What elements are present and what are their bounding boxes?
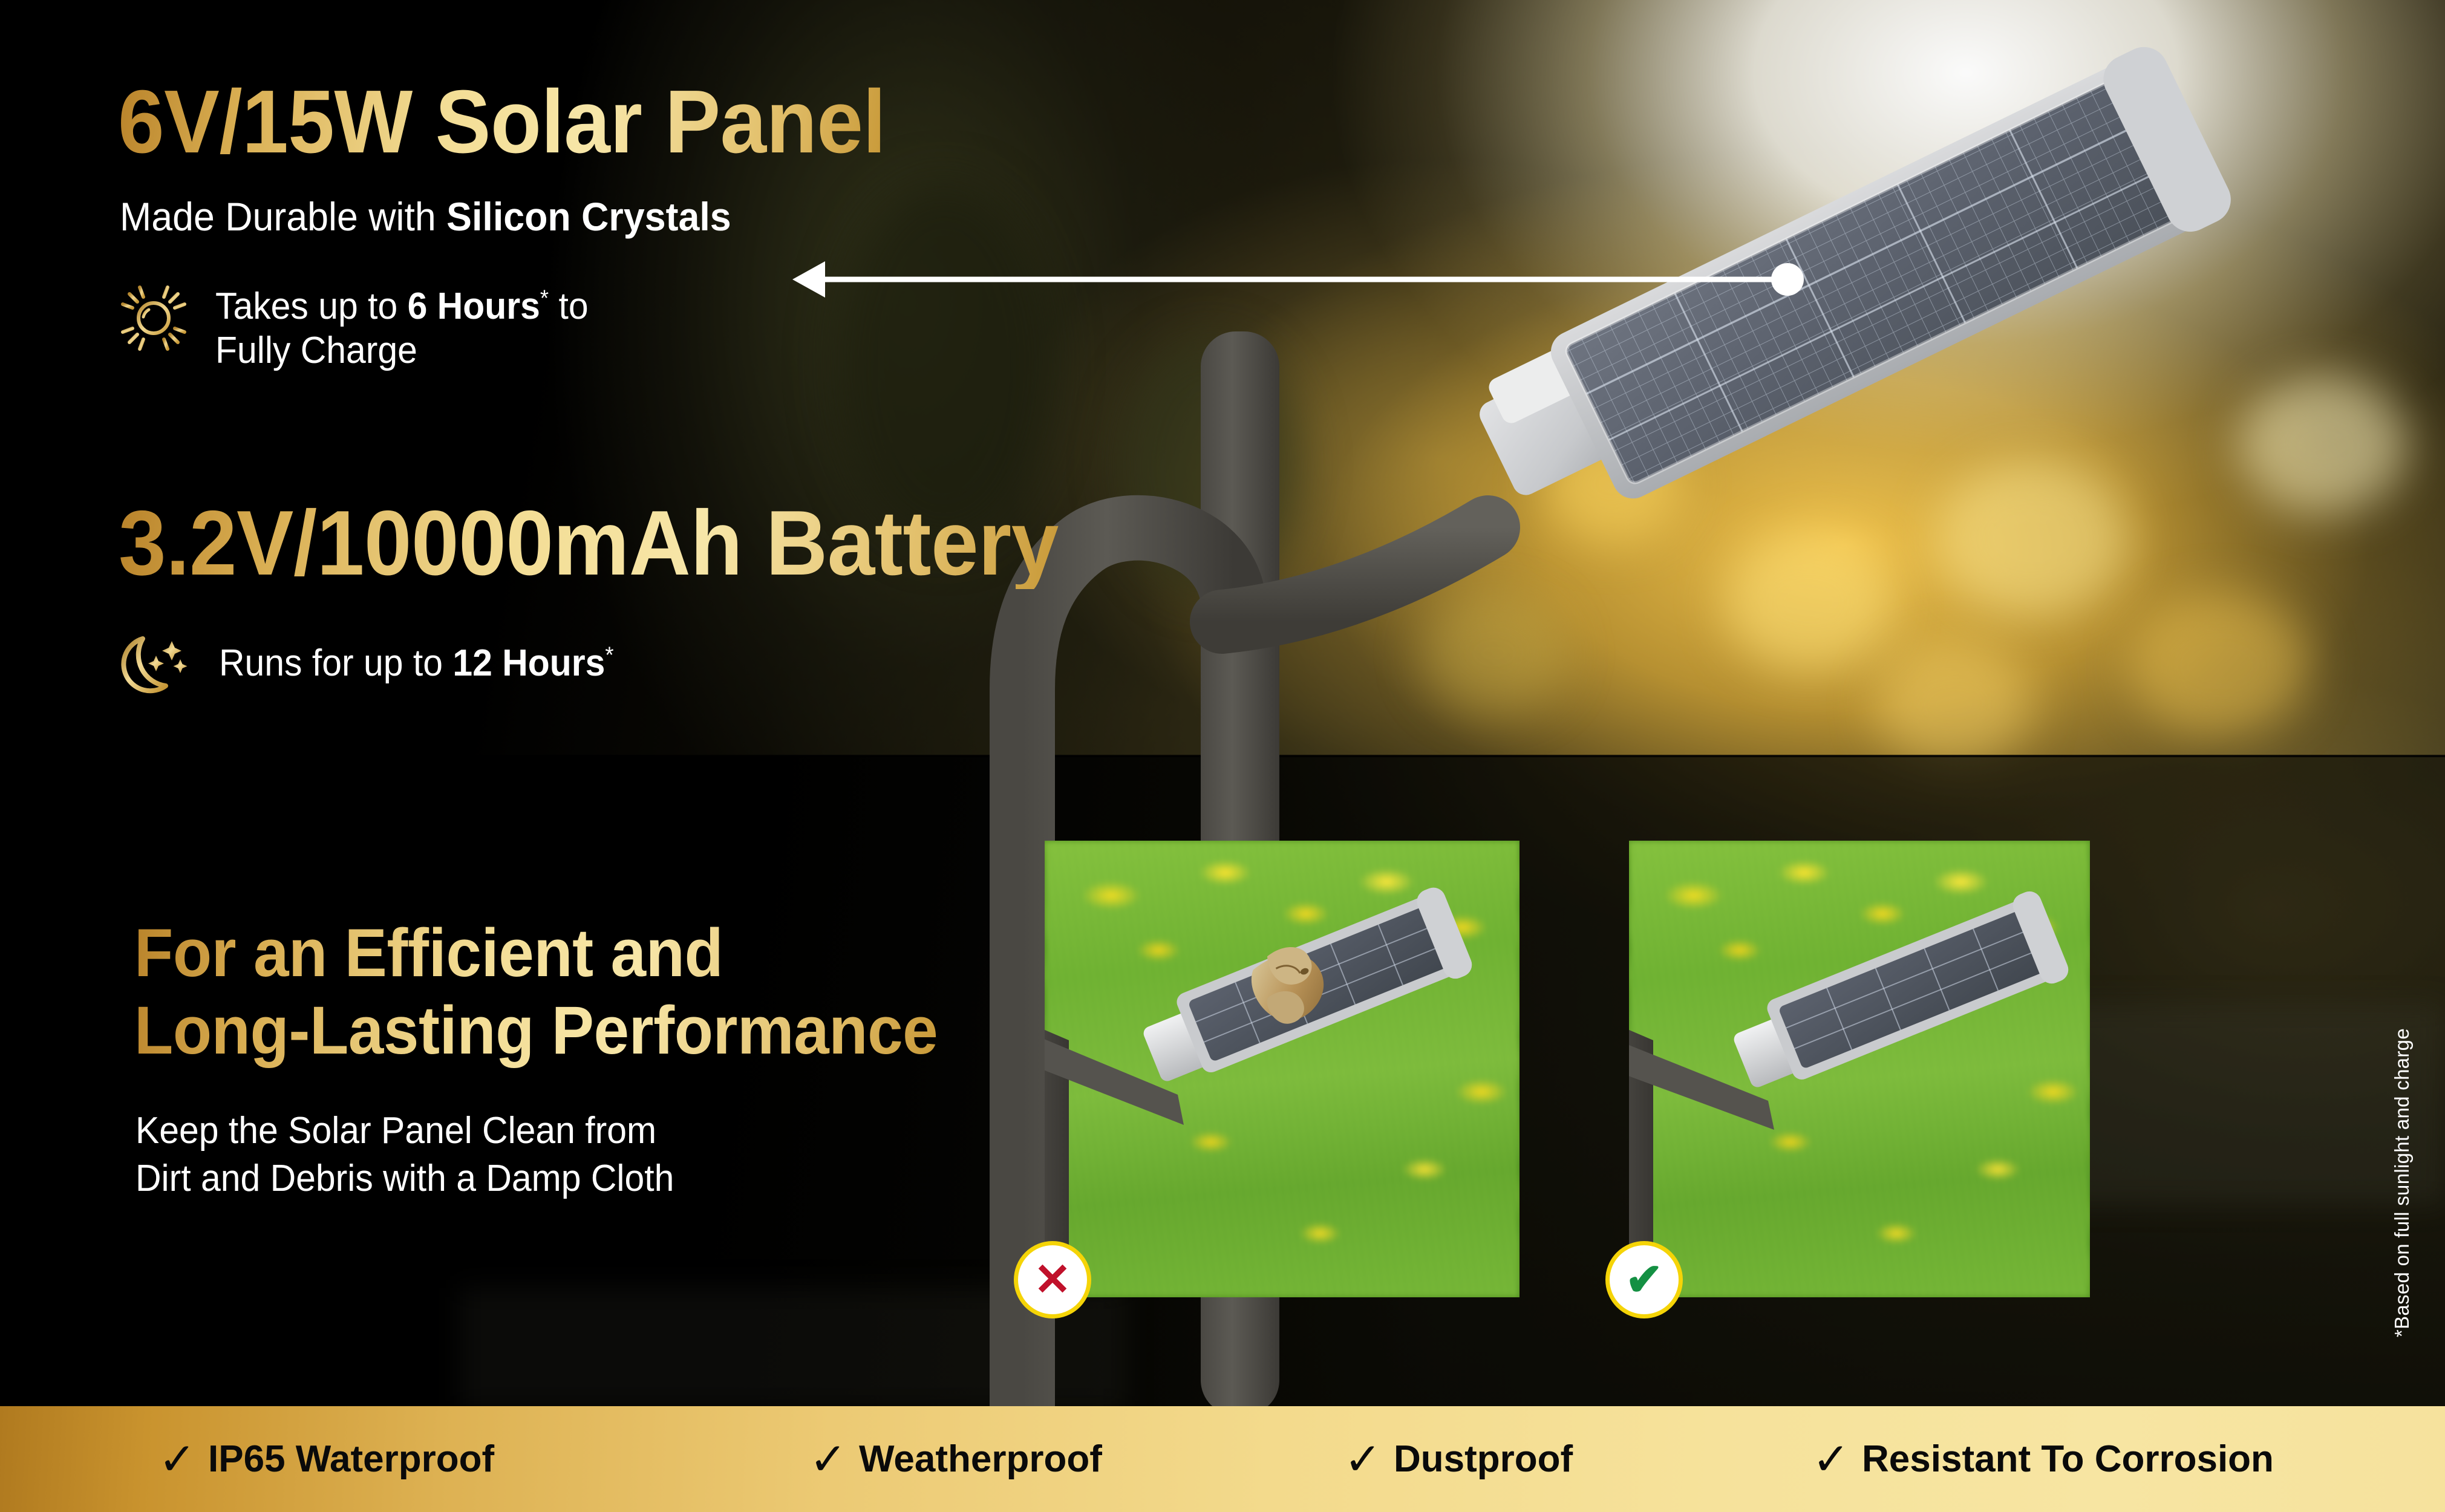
sun-icon — [115, 279, 192, 357]
performance-body: Keep the Solar Panel Clean from Dirt and… — [135, 1107, 674, 1203]
comparison-photo-clean — [1629, 841, 2090, 1297]
check-icon: ✓ — [1812, 1437, 1850, 1482]
infographic-canvas: 6V/15W Solar Panel Made Durable with Sil… — [0, 0, 2445, 1512]
runtime-prefix: Runs for up to — [219, 642, 452, 684]
performance-title-line2: Long-Lasting Performance — [134, 992, 938, 1068]
runtime-feature: Runs for up to 12 Hours* — [119, 628, 635, 705]
check-badge: ✔ — [1605, 1241, 1683, 1318]
feature-bar-label: IP65 Waterproof — [208, 1438, 494, 1481]
moon-stars-icon — [119, 628, 196, 705]
charge-line2: Fully Charge — [215, 330, 417, 371]
performance-body-line2: Dirt and Debris with a Damp Cloth — [135, 1158, 674, 1199]
performance-title: For an Efficient and Long-Lasting Perfor… — [134, 914, 938, 1069]
cross-badge: ✕ — [1014, 1241, 1091, 1318]
feature-bar-item-weatherproof: ✓ Weatherproof — [809, 1437, 1102, 1482]
callout-arrow — [792, 261, 1809, 298]
charge-prefix: Takes up to — [215, 285, 408, 327]
runtime-text: Runs for up to 12 Hours* — [219, 628, 614, 685]
feature-bar-label: Dustproof — [1394, 1438, 1573, 1481]
check-icon: ✓ — [158, 1437, 196, 1482]
charge-hours: 6 Hours — [408, 285, 540, 327]
cross-icon: ✕ — [1034, 1257, 1071, 1302]
charge-time-text: Takes up to 6 Hours* to Fully Charge — [215, 279, 589, 373]
check-icon: ✓ — [809, 1437, 847, 1482]
feature-bar-item-waterproof: ✓ IP65 Waterproof — [158, 1437, 494, 1482]
solar-subtitle-bold: Silicon Crystals — [446, 194, 731, 239]
charge-asterisk: * — [540, 285, 549, 311]
solar-panel-subtitle: Made Durable with Silicon Crystals — [120, 197, 731, 236]
battery-title: 3.2V/10000mAh Battery — [119, 497, 1059, 589]
comparison-photo-dirty — [1045, 841, 1520, 1297]
runtime-hours: 12 Hours — [452, 642, 605, 684]
feature-bar-label: Weatherproof — [859, 1438, 1102, 1481]
feature-bar: ✓ IP65 Waterproof ✓ Weatherproof ✓ Dustp… — [0, 1406, 2445, 1512]
feature-bar-label: Resistant To Corrosion — [1862, 1438, 2274, 1481]
check-icon: ✓ — [1344, 1437, 1382, 1482]
check-icon: ✔ — [1625, 1257, 1663, 1302]
charge-time-feature: Takes up to 6 Hours* to Fully Charge — [115, 279, 608, 373]
feature-bar-item-corrosion: ✓ Resistant To Corrosion — [1812, 1437, 2274, 1482]
footnote-text: *Based on full sunlight and charge — [2391, 1028, 2414, 1337]
solar-subtitle-prefix: Made Durable with — [120, 194, 446, 239]
background-silhouette — [2045, 1004, 2444, 1204]
runtime-asterisk: * — [605, 642, 613, 668]
feature-bar-item-dustproof: ✓ Dustproof — [1344, 1437, 1573, 1482]
charge-suffix: to — [549, 285, 588, 327]
section-divider — [0, 755, 2445, 757]
solar-panel-title: 6V/15W Solar Panel — [118, 77, 886, 167]
performance-title-line1: For an Efficient and — [134, 915, 723, 991]
performance-body-line1: Keep the Solar Panel Clean from — [135, 1110, 656, 1152]
